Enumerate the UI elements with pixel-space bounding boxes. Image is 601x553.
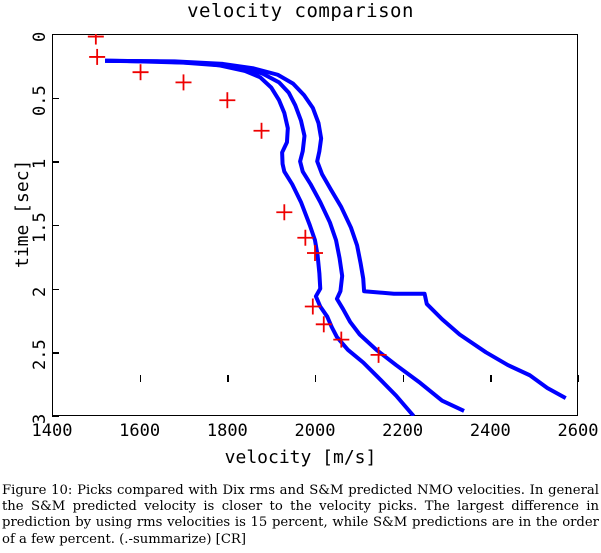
velocity-pick-marker xyxy=(88,34,104,45)
velocity-pick-marker xyxy=(276,204,292,220)
figure-velocity-comparison: velocity comparison 14001600180020002200… xyxy=(0,0,601,553)
y-tick-label: 2.5 xyxy=(30,340,50,371)
y-axis-title: time [sec] xyxy=(12,160,33,268)
y-tick-label: 0.5 xyxy=(30,85,50,116)
curve-curve-right xyxy=(105,61,566,398)
x-tick xyxy=(578,375,579,382)
x-tick xyxy=(52,375,53,382)
x-tick-label: 2200 xyxy=(368,421,438,441)
y-tick xyxy=(52,98,59,99)
figure-caption: Figure 10: Picks compared with Dix rms a… xyxy=(2,483,599,548)
velocity-picks xyxy=(88,34,387,363)
x-tick-label: 2600 xyxy=(543,421,601,441)
x-tick-label: 2400 xyxy=(455,421,525,441)
y-tick-label: 3 xyxy=(30,414,50,424)
velocity-curves xyxy=(105,61,566,416)
x-tick-label: 1600 xyxy=(105,421,175,441)
x-tick-label: 1400 xyxy=(17,421,87,441)
y-tick xyxy=(52,352,59,353)
x-axis-title: velocity [m/s] xyxy=(0,447,601,468)
velocity-pick-marker xyxy=(219,92,235,108)
y-tick xyxy=(52,34,59,35)
velocity-pick-marker xyxy=(254,123,270,139)
y-tick-label: 1 xyxy=(30,159,50,169)
velocity-pick-marker xyxy=(89,49,105,65)
x-tick xyxy=(403,375,404,382)
plot-canvas xyxy=(52,34,578,416)
y-tick xyxy=(52,225,59,226)
x-tick xyxy=(227,375,228,382)
y-tick-label: 2 xyxy=(30,286,50,296)
x-tick xyxy=(315,375,316,382)
plot-area xyxy=(52,34,578,416)
y-tick xyxy=(52,289,59,290)
x-tick-label: 2000 xyxy=(280,421,350,441)
y-tick-label: 1.5 xyxy=(30,212,50,243)
y-tick-label: 0 xyxy=(30,32,50,42)
y-tick xyxy=(52,416,59,417)
velocity-pick-marker xyxy=(307,245,323,261)
velocity-pick-marker xyxy=(176,74,192,90)
y-tick xyxy=(52,161,59,162)
page-title: velocity comparison xyxy=(0,0,601,22)
x-tick xyxy=(490,375,491,382)
velocity-pick-marker xyxy=(133,64,149,80)
curve-curve-left xyxy=(105,61,414,416)
x-tick-label: 1800 xyxy=(192,421,262,441)
x-tick xyxy=(140,375,141,382)
